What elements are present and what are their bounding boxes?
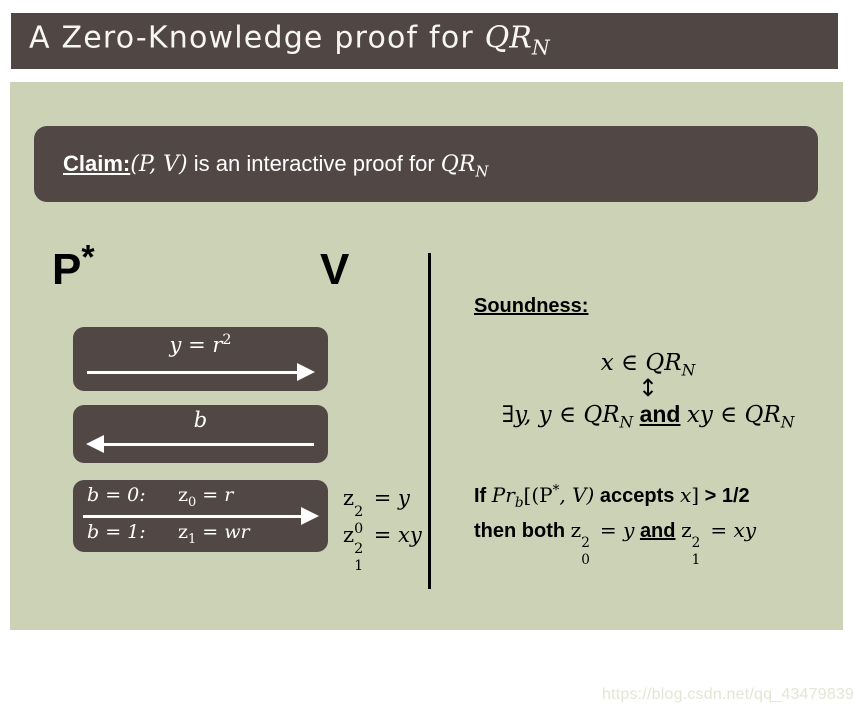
msg3-top-value: z0 = r bbox=[178, 484, 233, 507]
verifier-label: V bbox=[320, 248, 349, 292]
check1-sub: 1 bbox=[354, 548, 363, 584]
check1-base: z bbox=[343, 523, 354, 547]
soundness-and: and bbox=[640, 401, 681, 427]
soundness-qr-base-2: QR bbox=[583, 402, 619, 428]
soundness-in-3: ∈ bbox=[713, 402, 745, 428]
protocol-message-3: b = 0: z0 = r b = 1: z1 = wr bbox=[73, 480, 328, 552]
claim-math-sub: N bbox=[475, 162, 488, 180]
check0-rhs: y bbox=[398, 486, 410, 510]
soundness-equivalence: x ∈ QRN ↕ ∃y, y ∈ QRN and xy ∈ QRN bbox=[462, 350, 834, 427]
msg3-top-rhs: r bbox=[224, 484, 233, 506]
verifier-checks: z20 = y z21 = xy bbox=[343, 480, 422, 554]
equivalence-arrow-icon: ↕ bbox=[462, 375, 834, 401]
slide-title-math-sub: N bbox=[532, 36, 550, 60]
conclusion-z1-base: z bbox=[681, 518, 692, 542]
arrow-left-icon bbox=[86, 435, 104, 453]
check0-base: z bbox=[343, 486, 354, 510]
msg1-eq: = bbox=[181, 333, 212, 357]
conclusion-eq-2: = bbox=[704, 518, 733, 542]
conclusion-then: then both bbox=[474, 520, 571, 542]
claim-middle: is an interactive proof for bbox=[188, 151, 441, 176]
conclusion-xy: xy bbox=[733, 518, 756, 542]
conclusion-if: If bbox=[474, 485, 492, 507]
conclusion-line-2: then both z20 = y and z21 = xy bbox=[474, 513, 756, 548]
soundness-in-2: ∈ bbox=[552, 402, 584, 428]
conclusion-bracket-open: [(P bbox=[524, 483, 553, 507]
soundness-qr-base-1: QR bbox=[645, 350, 681, 376]
conclusion-eq-1: = bbox=[594, 518, 623, 542]
msg1-rhs-exponent: 2 bbox=[222, 332, 231, 348]
msg3-bottom-sub: 1 bbox=[188, 532, 196, 547]
slide-content-panel: Claim:(P, V) is an interactive proof for… bbox=[10, 82, 843, 630]
arrow-shaft bbox=[87, 371, 298, 374]
soundness-qr-sub-3: N bbox=[781, 412, 795, 431]
conclusion-z1-sub: 1 bbox=[692, 543, 701, 577]
msg3-top-base: z bbox=[178, 484, 188, 506]
claim-box: Claim:(P, V) is an interactive proof for… bbox=[34, 126, 818, 202]
claim-math-base: QR bbox=[441, 152, 476, 177]
conclusion-and: and bbox=[640, 520, 676, 542]
prover-letter: P bbox=[52, 245, 81, 294]
soundness-xy: xy bbox=[687, 402, 713, 428]
conclusion-z0-base: z bbox=[571, 518, 582, 542]
conclusion-pr-base: Pr bbox=[492, 483, 515, 507]
check1-eq: = bbox=[367, 523, 398, 547]
msg2-lhs: b bbox=[194, 408, 207, 432]
soundness-qr-sub-2: N bbox=[620, 412, 634, 431]
prover-label: P* bbox=[52, 248, 95, 292]
protocol-message-2: b bbox=[73, 405, 328, 463]
check1-rhs: xy bbox=[398, 523, 422, 547]
soundness-heading: Soundness: bbox=[474, 295, 588, 318]
prover-star: * bbox=[81, 238, 94, 276]
msg1-lhs: y bbox=[170, 333, 182, 357]
soundness-qr-base-3: QR bbox=[745, 402, 781, 428]
slide-title-bar: A Zero-Knowledge proof for QRN bbox=[11, 13, 838, 69]
verifier-check-0: z20 = y bbox=[343, 480, 422, 517]
conclusion-x: x bbox=[680, 483, 691, 507]
arrow-right-icon bbox=[297, 363, 315, 381]
msg3-bottom-eq: = bbox=[196, 521, 224, 543]
msg3-bottom-case: b = 1: bbox=[87, 521, 146, 543]
conclusion-threshold: > 1/2 bbox=[699, 485, 750, 507]
soundness-quantifier: ∃y, y bbox=[502, 402, 552, 428]
conclusion-pr-sub: b bbox=[515, 495, 524, 511]
protocol-message-1-label: y = r2 bbox=[73, 333, 328, 358]
msg3-top-sub: 0 bbox=[188, 495, 196, 510]
soundness-x: x bbox=[601, 350, 614, 376]
claim-keyword: Claim: bbox=[63, 151, 130, 176]
msg3-bottom-base: z bbox=[178, 521, 188, 543]
conclusion-z0-sub: 0 bbox=[581, 543, 590, 577]
slide-title-math-base: QR bbox=[485, 21, 532, 56]
msg3-bottom-value: z1 = wr bbox=[178, 521, 250, 544]
msg3-top-eq: = bbox=[196, 484, 224, 506]
soundness-line-1: x ∈ QRN bbox=[462, 350, 834, 375]
conclusion-pair-rest: , V) bbox=[559, 483, 594, 507]
soundness-qr-sub-1: N bbox=[682, 361, 696, 380]
msg3-top-case: b = 0: bbox=[87, 484, 146, 506]
conclusion-accepts: accepts bbox=[594, 485, 680, 507]
slide-canvas: A Zero-Knowledge proof for QRN Claim:(P,… bbox=[0, 0, 854, 641]
protocol-message-1: y = r2 bbox=[73, 327, 328, 391]
claim-text: Claim:(P, V) is an interactive proof for… bbox=[63, 151, 488, 177]
arrow-right-icon bbox=[301, 507, 319, 525]
arrow-shaft bbox=[101, 443, 314, 446]
conclusion-y: y bbox=[623, 518, 634, 542]
soundness-line-3: ∃y, y ∈ QRN and xy ∈ QRN bbox=[462, 402, 834, 427]
msg1-rhs: r bbox=[212, 333, 222, 357]
column-divider bbox=[428, 253, 431, 589]
claim-pair: (P, V) bbox=[130, 152, 187, 177]
check0-eq: = bbox=[367, 486, 398, 510]
conclusion-line-1: If Prb[(P*, V) accepts x] > 1/2 bbox=[474, 478, 756, 513]
protocol-message-2-label: b bbox=[73, 408, 328, 433]
msg3-bottom-rhs: wr bbox=[224, 521, 249, 543]
watermark: https://blog.csdn.net/qq_43479839 bbox=[602, 686, 854, 704]
slide-title-prefix: A Zero-Knowledge proof for bbox=[29, 21, 485, 56]
soundness-conclusion: If Prb[(P*, V) accepts x] > 1/2 then bot… bbox=[474, 478, 756, 548]
conclusion-bracket-close: ] bbox=[691, 483, 699, 507]
arrow-shaft bbox=[83, 515, 302, 518]
slide-title: A Zero-Knowledge proof for QRN bbox=[29, 21, 550, 60]
soundness-in-1: ∈ bbox=[614, 350, 646, 376]
